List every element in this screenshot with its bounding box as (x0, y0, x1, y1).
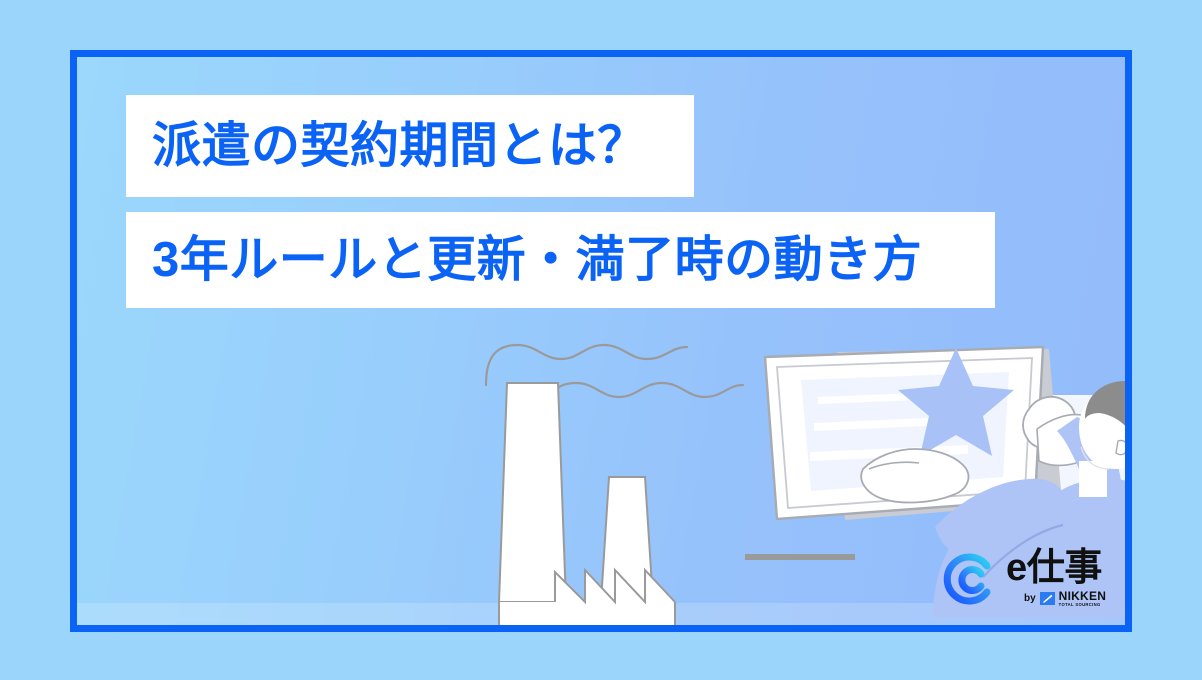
nikken-text-group: NIKKEN TOTAL SOURCING (1059, 590, 1106, 607)
logo-by-label: by (1024, 594, 1036, 604)
e-circle-logo-icon (943, 552, 997, 606)
brand-logo-lockup[interactable]: e仕事 by NIKKEN TOTAL SOURCING (943, 549, 1125, 621)
banner-canvas: 派遣の契約期間とは？ 3年ルールと更新・満了時の動き方 (0, 0, 1202, 680)
logo-wordmark: e仕事 (1006, 549, 1102, 587)
title-band-primary: 派遣の契約期間とは？ (126, 95, 694, 197)
logo-byline: by NIKKEN TOTAL SOURCING (1024, 590, 1106, 607)
hand-open-palm (861, 449, 968, 502)
nikken-tagline: TOTAL SOURCING (1059, 603, 1106, 607)
hair (1085, 381, 1125, 451)
factory-illustration (499, 383, 675, 625)
head (1079, 391, 1125, 469)
page-title-line-1: 派遣の契約期間とは？ (152, 122, 647, 171)
tablet-illustration (765, 347, 1062, 520)
accent-bar (745, 554, 855, 560)
nikken-badge-icon (1040, 592, 1055, 605)
nikken-brand-name: NIKKEN (1059, 590, 1106, 602)
banner-frame: 派遣の契約期間とは？ 3年ルールと更新・満了時の動き方 (70, 50, 1132, 632)
smoke-lines (486, 345, 743, 417)
title-band-secondary: 3年ルールと更新・満了時の動き方 (126, 212, 995, 308)
star-icon (898, 348, 1014, 456)
logo-wordmark-group: e仕事 by NIKKEN TOTAL SOURCING (1006, 549, 1106, 607)
page-title-line-2: 3年ルールと更新・満了時の動き方 (152, 236, 922, 285)
wall-panel (1012, 395, 1125, 569)
